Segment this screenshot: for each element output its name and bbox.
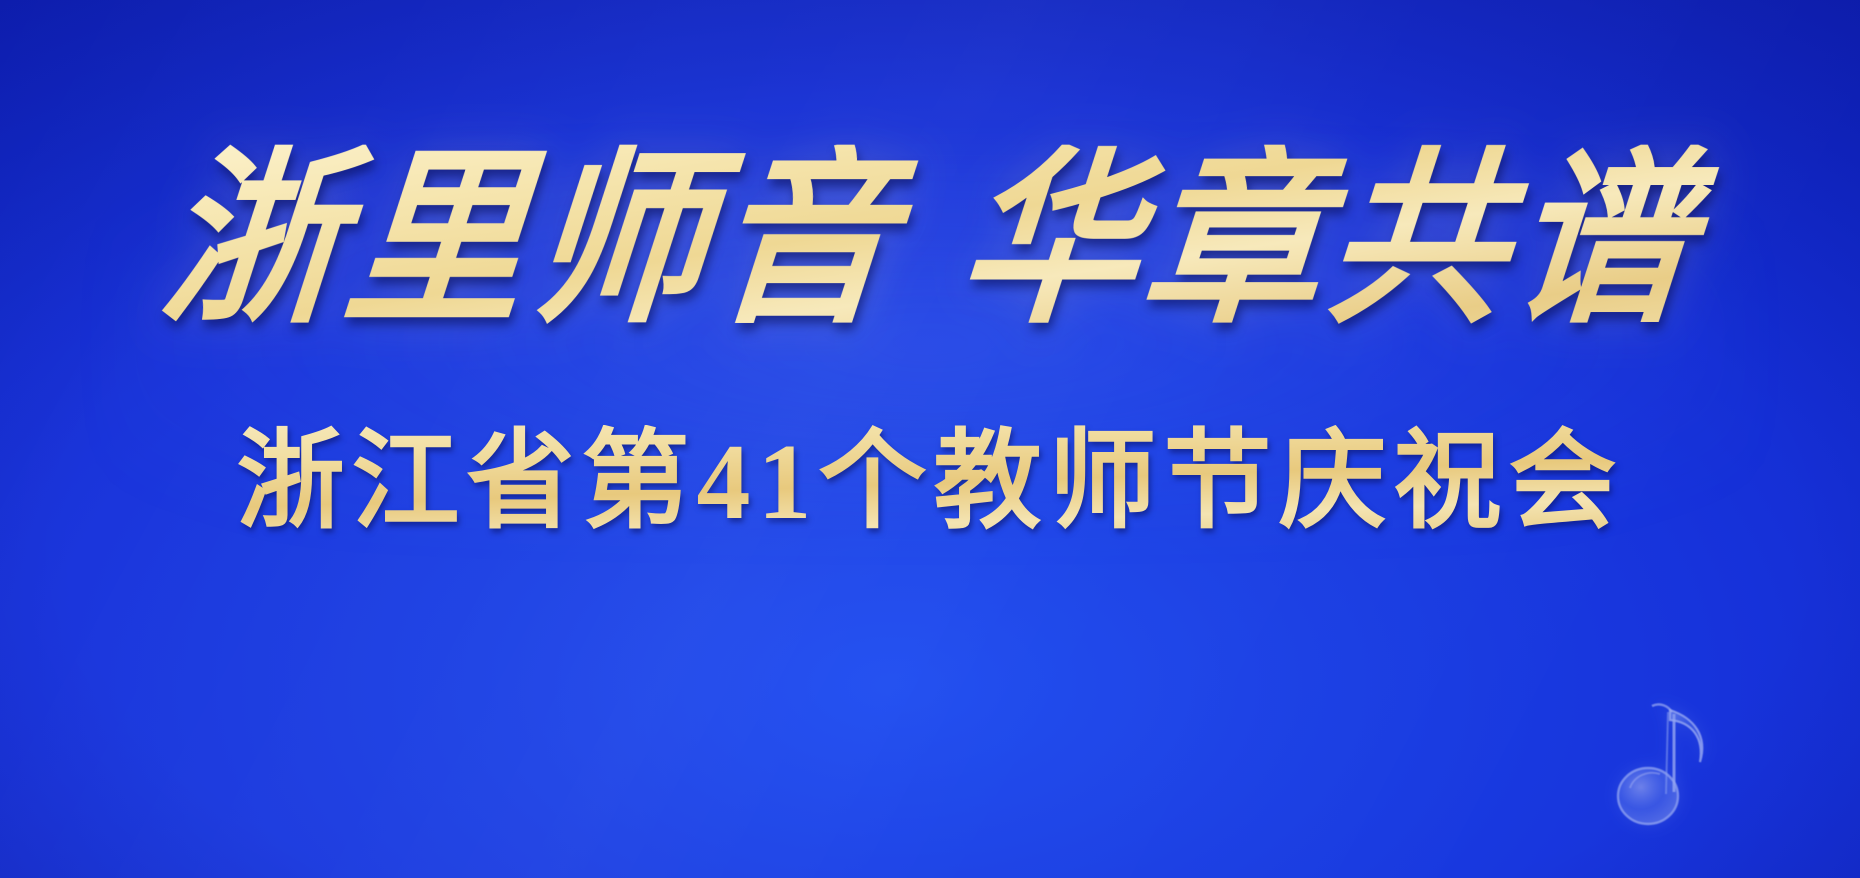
headline-calligraphy: 浙里师音华章共谱 — [0, 145, 1860, 334]
poster-content: 浙里师音华章共谱 浙江省第41个教师节庆祝会 — [0, 0, 1860, 878]
headline-phrase-right: 华章共谱 — [951, 128, 1706, 350]
poster-stage: 浙里师音华章共谱 浙江省第41个教师节庆祝会 — [0, 0, 1860, 878]
subtitle-event-name: 浙江省第41个教师节庆祝会 — [0, 425, 1860, 542]
headline-phrase-left: 浙里师音 — [153, 128, 908, 350]
